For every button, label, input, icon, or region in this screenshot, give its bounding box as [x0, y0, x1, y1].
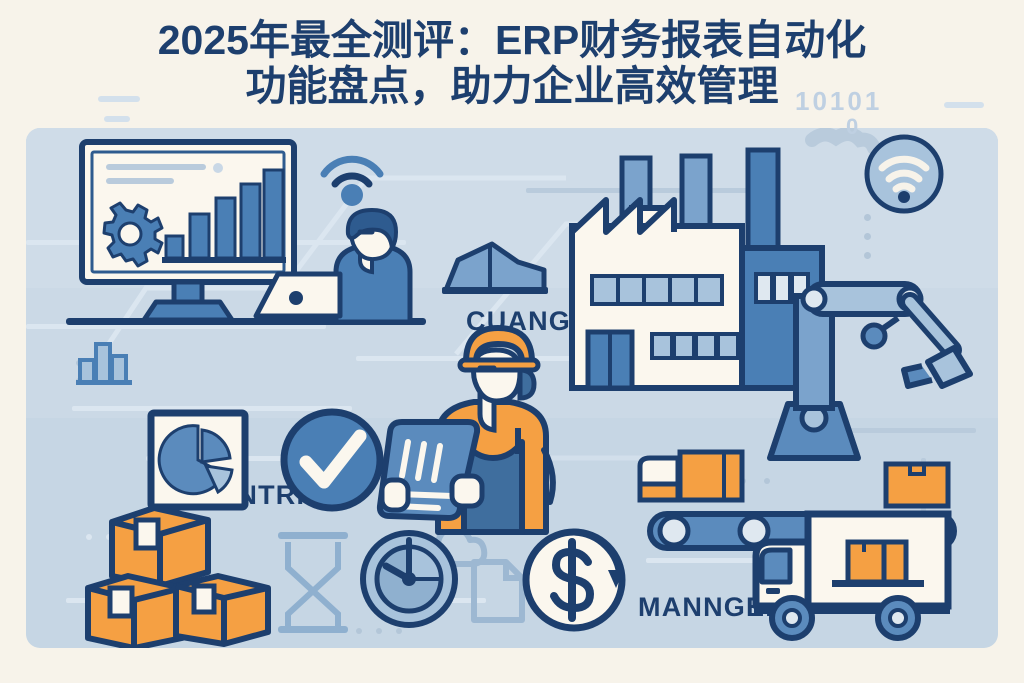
- conveyor-truck-cab: [636, 446, 786, 506]
- gauge-icon: [356, 526, 462, 632]
- mini-bar-chart-icon: [74, 334, 138, 390]
- dollar-refresh-icon: [516, 520, 640, 642]
- illustration-panel: CUANG CCNTRIAN MANNGENG: [26, 128, 998, 648]
- factory-worker-with-tablet: [376, 316, 586, 536]
- warehouse-tent-icon: [440, 240, 550, 296]
- pie-chart-icon: [146, 408, 250, 512]
- title-line-2: 功能盘点，助力企业高效管理: [0, 64, 1024, 110]
- wifi-signal-icon: [318, 146, 386, 202]
- stacked-cardboard-boxes: [82, 506, 272, 646]
- hourglass-icon: [270, 528, 356, 638]
- check-circle-icon: [276, 404, 388, 516]
- office-worker-with-laptop: [248, 210, 438, 325]
- binary-text-bottom: 0: [846, 114, 858, 140]
- delivery-truck: [752, 500, 982, 640]
- dash-decor-2: [104, 116, 130, 122]
- title-line-1: 2025年最全测评：ERP财务报表自动化: [0, 18, 1024, 64]
- poster-canvas: 2025年最全测评：ERP财务报表自动化 功能盘点，助力企业高效管理 10101…: [0, 0, 1024, 683]
- poster-title: 2025年最全测评：ERP财务报表自动化 功能盘点，助力企业高效管理: [0, 18, 1024, 110]
- wifi-icon: [862, 132, 946, 216]
